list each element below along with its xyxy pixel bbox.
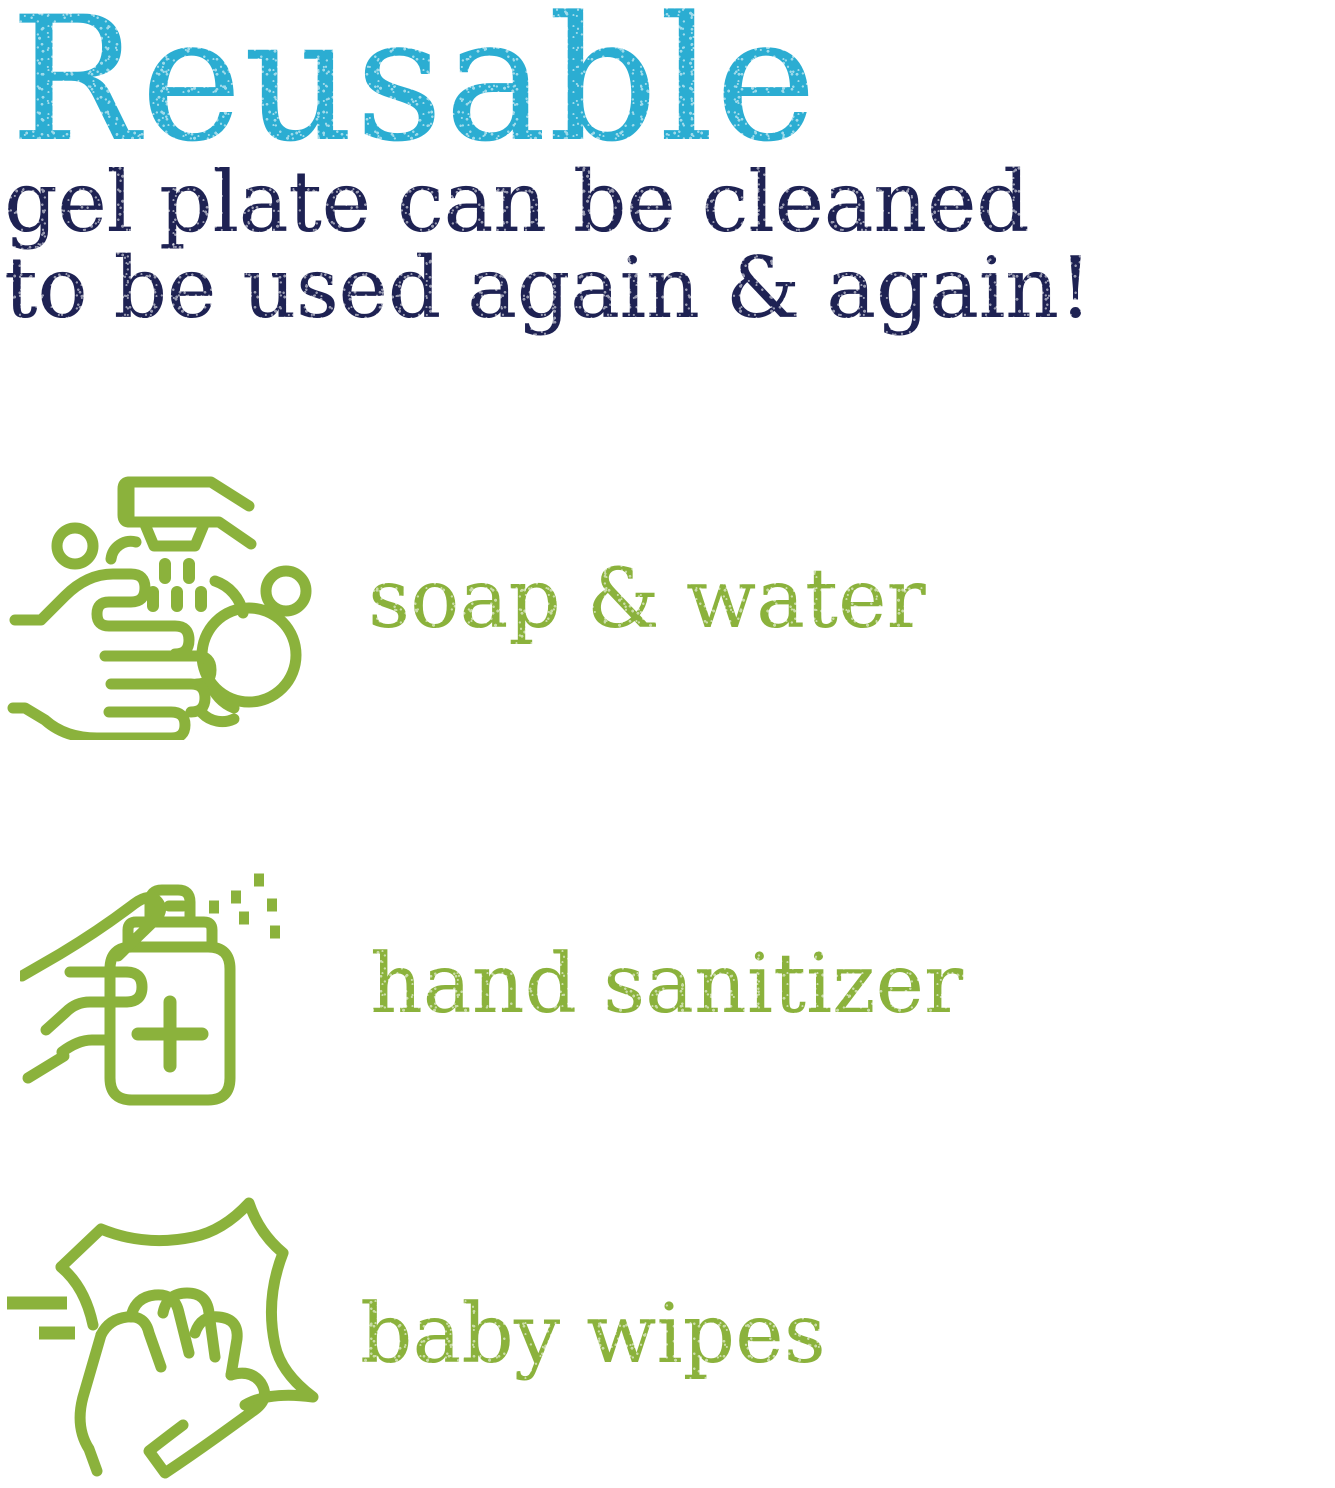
method-row-baby-wipes: baby wipes: [0, 1185, 1335, 1485]
heading-block: Reusable gel plate can be cleaned to be …: [0, 0, 1335, 331]
page-subtitle: gel plate can be cleaned to be used agai…: [0, 160, 1335, 331]
page-title-text: Reusable: [10, 0, 818, 160]
hand-sanitizer-icon-wrap: [0, 850, 340, 1120]
method-row-hand-sanitizer: hand sanitizer: [0, 840, 1335, 1130]
method-label-soap-water: soap & water: [368, 559, 926, 641]
method-label-baby-wipes: baby wipes: [360, 1294, 826, 1376]
page-title: Reusable: [0, 0, 1335, 160]
hands-washing-under-soap-dispenser-icon: [5, 460, 335, 740]
method-label-hand-sanitizer: hand sanitizer: [370, 944, 963, 1026]
hand-pressing-sanitizer-pump-bottle-icon: [20, 850, 320, 1120]
infographic-page: Reusable gel plate can be cleaned to be …: [0, 0, 1335, 1488]
method-row-soap-water: soap & water: [0, 455, 1335, 745]
hand-wiping-with-cloth-icon: [5, 1185, 335, 1485]
soap-water-icon-wrap: [0, 460, 340, 740]
baby-wipes-icon-wrap: [0, 1185, 340, 1485]
page-subtitle-line-1: gel plate can be cleaned: [4, 160, 1029, 246]
page-subtitle-line-2: to be used again & again!: [4, 246, 1092, 332]
